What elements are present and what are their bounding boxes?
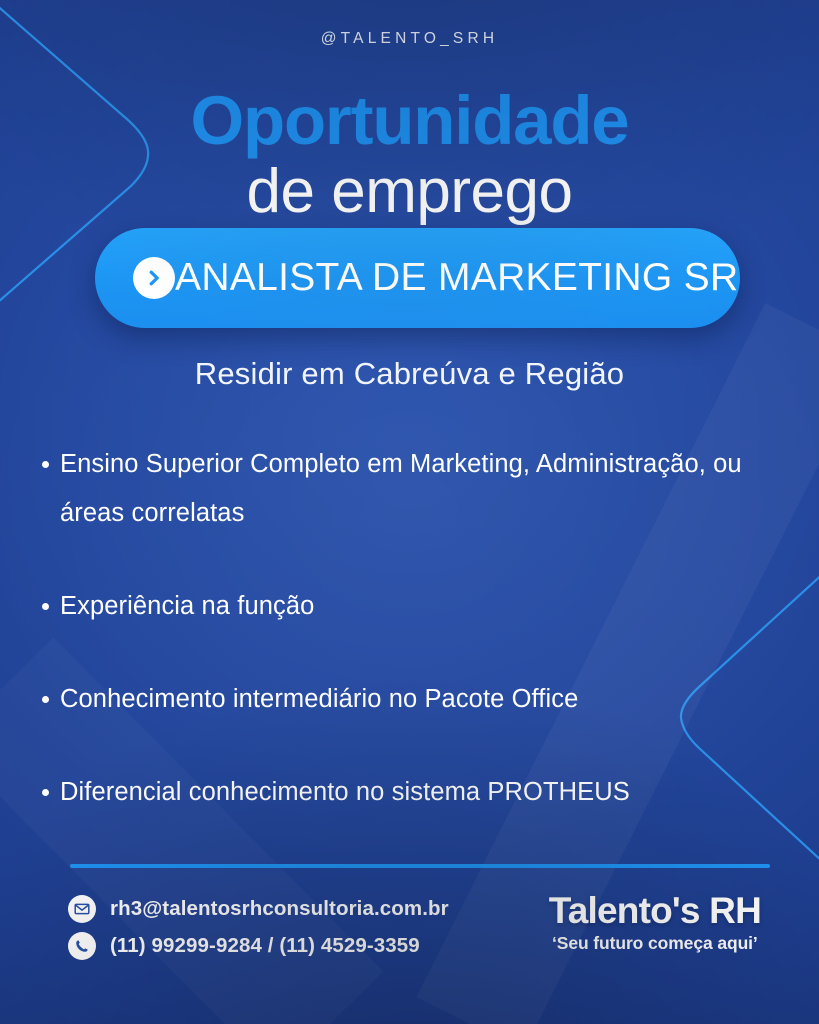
company-logo: Talento's RH ‘Seu futuro começa aqui’ (549, 892, 761, 954)
bullet-icon (42, 461, 49, 468)
instagram-handle: @TALENTO_SRH (0, 30, 819, 48)
bullet-icon (42, 696, 49, 703)
job-posting-poster: @TALENTO_SRH Oportunidade de emprego ANA… (0, 0, 819, 1024)
contact-email-row[interactable]: rh3@talentosrhconsultoria.com.br (68, 895, 449, 923)
list-item: Experiência na função (42, 582, 787, 631)
email-address: rh3@talentosrhconsultoria.com.br (110, 897, 449, 921)
title-primary: Oportunidade (0, 86, 819, 155)
requirement-text: Ensino Superior Completo em Marketing, A… (60, 440, 787, 538)
footer: rh3@talentosrhconsultoria.com.br (11) 99… (0, 890, 819, 990)
location-requirement: Residir em Cabreúva e Região (0, 356, 819, 392)
company-tagline: ‘Seu futuro começa aqui’ (549, 933, 761, 954)
list-item: Ensino Superior Completo em Marketing, A… (42, 440, 787, 538)
phone-numbers: (11) 99299-9284 / (11) 4529-3359 (110, 934, 420, 958)
bullet-icon (42, 603, 49, 610)
requirement-text: Diferencial conhecimento no sistema PROT… (60, 768, 787, 817)
job-role-label: ANALISTA DE MARKETING SR (175, 256, 790, 300)
envelope-icon (68, 895, 96, 923)
bullet-icon (42, 789, 49, 796)
list-item: Diferencial conhecimento no sistema PROT… (42, 768, 787, 817)
phone-icon (68, 932, 96, 960)
footer-divider (70, 864, 770, 868)
contact-phone-row[interactable]: (11) 99299-9284 / (11) 4529-3359 (68, 932, 449, 960)
requirement-text: Experiência na função (60, 582, 787, 631)
contact-block: rh3@talentosrhconsultoria.com.br (11) 99… (68, 895, 449, 969)
requirements-list: Ensino Superior Completo em Marketing, A… (42, 440, 787, 817)
chevron-right-circle-icon (133, 257, 175, 299)
page-title: Oportunidade de emprego (0, 86, 819, 223)
requirement-text: Conhecimento intermediário no Pacote Off… (60, 675, 787, 724)
list-item: Conhecimento intermediário no Pacote Off… (42, 675, 787, 724)
title-secondary: de emprego (0, 161, 819, 223)
company-name: Talento's RH (549, 892, 761, 931)
job-role-pill: ANALISTA DE MARKETING SR (95, 228, 740, 328)
